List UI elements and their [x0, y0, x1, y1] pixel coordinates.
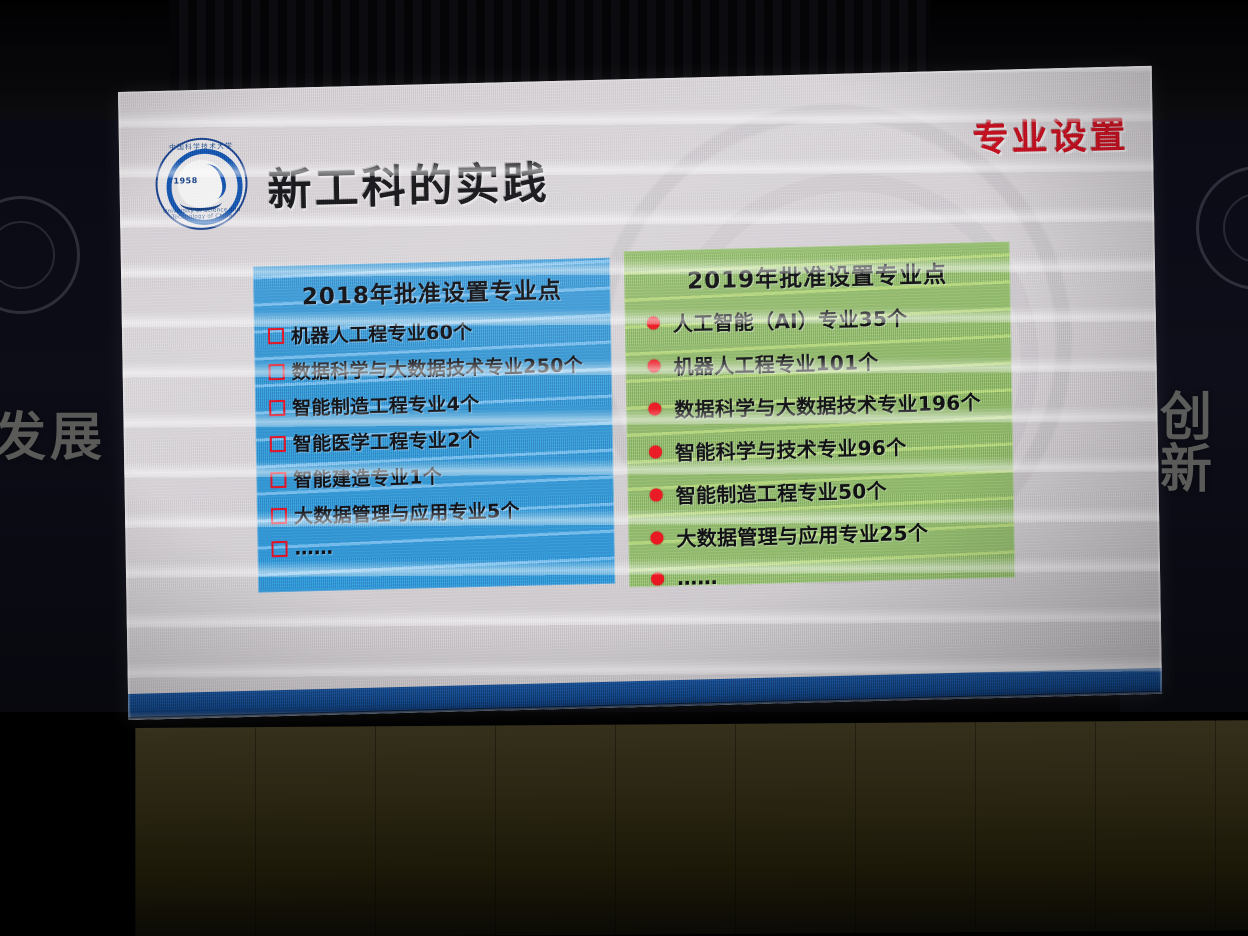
stage-backdrop-panel — [135, 719, 1248, 936]
square-bullet-icon — [270, 435, 286, 451]
list-item: 智能建造专业1个 — [270, 458, 613, 494]
list-item-label: 大数据管理与应用专业25个 — [676, 517, 928, 552]
list-item-label: 机器人工程专业60个 — [291, 317, 473, 349]
circle-bullet-icon — [651, 572, 664, 585]
list-item-label: 大数据管理与应用专业5个 — [294, 496, 520, 529]
right-banner-text: 创新 — [1160, 392, 1248, 496]
left-banner-text: 发展 — [0, 412, 106, 464]
circle-bullet-icon — [650, 488, 663, 501]
slide-content: 中国科学技术大学 1958 University of Science and … — [118, 66, 1162, 720]
list-item: 人工智能（AI）专业35个 — [647, 299, 1011, 337]
logo-bottom-text: University of Science and Technology of … — [158, 207, 246, 221]
list-item: 大数据管理与应用专业25个 — [650, 514, 1014, 552]
list-item-label: …… — [677, 565, 718, 590]
list-item: 机器人工程专业101个 — [647, 342, 1011, 380]
square-bullet-icon — [271, 507, 287, 523]
list-item-label: 机器人工程专业101个 — [673, 346, 878, 380]
circle-bullet-icon — [647, 316, 660, 329]
list-item-label: …… — [294, 537, 333, 560]
circle-bullet-icon — [647, 359, 660, 372]
square-bullet-icon — [269, 363, 285, 379]
list-item-label: 智能科学与技术专业96个 — [675, 431, 907, 466]
list-item: 机器人工程专业60个 — [268, 314, 611, 350]
square-bullet-icon — [269, 399, 285, 415]
section-label: 专业设置 — [972, 106, 1129, 162]
circle-bullet-icon — [648, 402, 661, 415]
page-title: 新工科的实践 — [267, 147, 550, 218]
list-item: …… — [651, 557, 1015, 590]
panel-2018: 2018年批准设置专业点 机器人工程专业60个 数据科学与大数据技术专业250个 — [253, 258, 615, 593]
circle-bullet-icon — [649, 445, 662, 458]
panel-2018-list: 机器人工程专业60个 数据科学与大数据技术专业250个 智能制造工程专业4个 — [254, 304, 615, 561]
panel-2019: 2019年批准设置专业点 人工智能（AI）专业35个 机器人工程专业101个 — [624, 241, 1015, 587]
list-item-label: 智能医学工程专业2个 — [293, 425, 481, 457]
list-item: 智能医学工程专业2个 — [270, 422, 613, 458]
led-screen: 中国科学技术大学 1958 University of Science and … — [118, 66, 1162, 720]
list-item-label: 人工智能（AI）专业35个 — [673, 302, 908, 337]
list-item: 智能制造工程专业4个 — [269, 386, 612, 422]
circle-bullet-icon — [650, 531, 663, 544]
list-item: 数据科学与大数据技术专业196个 — [648, 385, 1012, 423]
list-item-label: 数据科学与大数据技术专业250个 — [291, 350, 583, 384]
logo-year-text: 1958 — [173, 176, 197, 186]
list-item: 智能科学与技术专业96个 — [649, 428, 1013, 466]
square-bullet-icon — [270, 471, 286, 487]
ustc-seal-logo-icon: 中国科学技术大学 1958 University of Science and … — [155, 137, 248, 231]
stage-panel-seams — [135, 719, 1248, 936]
list-item-label: 数据科学与大数据技术专业196个 — [674, 386, 981, 423]
square-bullet-icon — [268, 327, 284, 343]
panel-2019-list: 人工智能（AI）专业35个 机器人工程专业101个 数据科学与大数据技术专业19… — [624, 287, 1015, 591]
list-item-label: 智能制造工程专业4个 — [292, 389, 480, 421]
square-bullet-icon — [271, 541, 287, 557]
list-item: 智能制造工程专业50个 — [649, 471, 1013, 509]
list-item-label: 智能制造工程专业50个 — [675, 475, 887, 509]
list-item-label: 智能建造专业1个 — [293, 462, 442, 493]
list-item: …… — [271, 530, 614, 561]
photo-scene: 发展 创新 中国科学技术大学 1958 Universi — [0, 0, 1248, 936]
list-item: 大数据管理与应用专业5个 — [271, 494, 614, 530]
list-item: 数据科学与大数据技术专业250个 — [268, 350, 611, 386]
